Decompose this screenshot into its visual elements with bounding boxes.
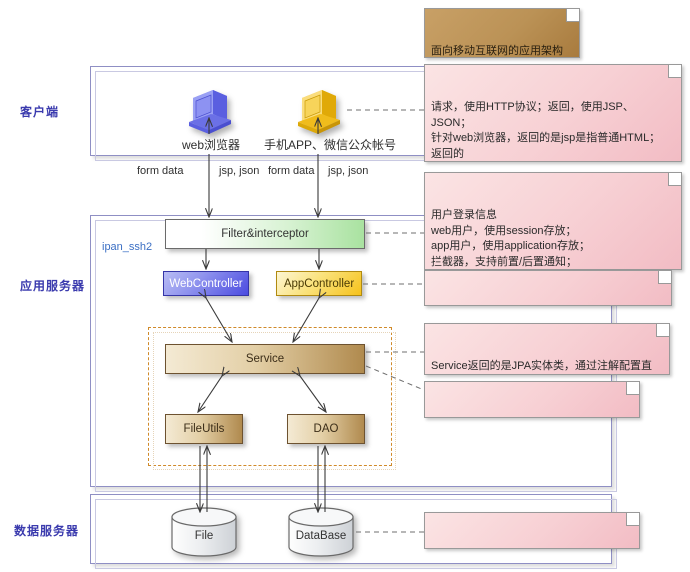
- note-fold-corner-icon: [656, 324, 669, 337]
- node-web-controller-label: WebController: [169, 278, 242, 290]
- package-label-ipan-ssh2: ipan_ssh2: [102, 241, 152, 253]
- node-filter-interceptor[interactable]: Filter&interceptor: [165, 219, 365, 249]
- tier-label-client: 客户端: [20, 103, 59, 120]
- note-service-jpa-text: Service返回的是JPA实体类，通过注解配置直接 将JPA实体类转换为JSO…: [431, 360, 652, 375]
- edge-label-web-form-data: form data: [137, 165, 183, 177]
- diagram-canvas: 客户端 应用服务器 ipan_ssh2 数据服务器 web浏览器: [0, 0, 690, 572]
- note-fold-corner-icon: [566, 9, 579, 22]
- node-app-controller[interactable]: AppController: [276, 271, 362, 296]
- node-web-controller[interactable]: WebController: [163, 271, 249, 296]
- note-protocol: 请求，使用HTTP协议；返回，使用JSP、JSON； 针对web浏览器，返回的是…: [424, 64, 682, 162]
- note-service-jpa: Service返回的是JPA实体类，通过注解配置直接 将JPA实体类转换为JSO…: [424, 323, 670, 375]
- mobile-app-icon[interactable]: [292, 84, 344, 136]
- web-browser-icon[interactable]: [183, 84, 235, 136]
- note-login: 用户登录信息 web用户，使用session存放； app用户，使用applic…: [424, 172, 682, 270]
- node-filter-interceptor-label: Filter&interceptor: [221, 228, 309, 240]
- title-note: 面向移动互联网的应用架构 iPan 2014-05-09: [424, 8, 580, 58]
- tier-label-data-server: 数据服务器: [14, 522, 79, 539]
- title-note-text: 面向移动互联网的应用架构 iPan 2014-05-09: [431, 45, 563, 58]
- edge-label-app-form-data: form data: [268, 165, 314, 177]
- note-fold-corner-icon: [668, 65, 681, 78]
- note-controller: 控制器分离 web浏览器请求与手机APP请求分开，便于管理；: [424, 270, 672, 306]
- edge-label-app-jsp-json: jsp, json: [328, 165, 368, 177]
- note-multi-server: 多应用服务器时，需要将数据库、文件移 出到其他服务器；: [424, 512, 640, 549]
- mobile-app-label: 手机APP、微信公众帐号: [264, 136, 374, 153]
- note-login-text: 用户登录信息 web用户，使用session存放； app用户，使用applic…: [431, 209, 662, 270]
- note-fold-corner-icon: [658, 271, 671, 284]
- store-file-label: File: [170, 530, 238, 542]
- note-base-service: 这块业务属于基础服务（云服务），供外部调 用，不会轻易变动；: [424, 381, 640, 418]
- store-database-icon[interactable]: DataBase: [287, 507, 355, 557]
- node-service[interactable]: Service: [165, 344, 365, 374]
- node-fileutils[interactable]: FileUtils: [165, 414, 243, 444]
- web-browser-label: web浏览器: [168, 136, 254, 153]
- note-fold-corner-icon: [626, 382, 639, 395]
- node-fileutils-label: FileUtils: [184, 423, 225, 435]
- node-dao[interactable]: DAO: [287, 414, 365, 444]
- note-fold-corner-icon: [626, 513, 639, 526]
- tier-label-app-server: 应用服务器: [20, 277, 85, 294]
- note-protocol-text: 请求，使用HTTP协议；返回，使用JSP、JSON； 针对web浏览器，返回的是…: [431, 101, 660, 162]
- node-service-label: Service: [246, 353, 284, 365]
- store-database-label: DataBase: [287, 530, 355, 542]
- node-dao-label: DAO: [314, 423, 339, 435]
- edge-label-web-jsp-json: jsp, json: [219, 165, 259, 177]
- store-file-icon[interactable]: File: [170, 507, 238, 557]
- node-app-controller-label: AppController: [284, 278, 354, 290]
- note-fold-corner-icon: [668, 173, 681, 186]
